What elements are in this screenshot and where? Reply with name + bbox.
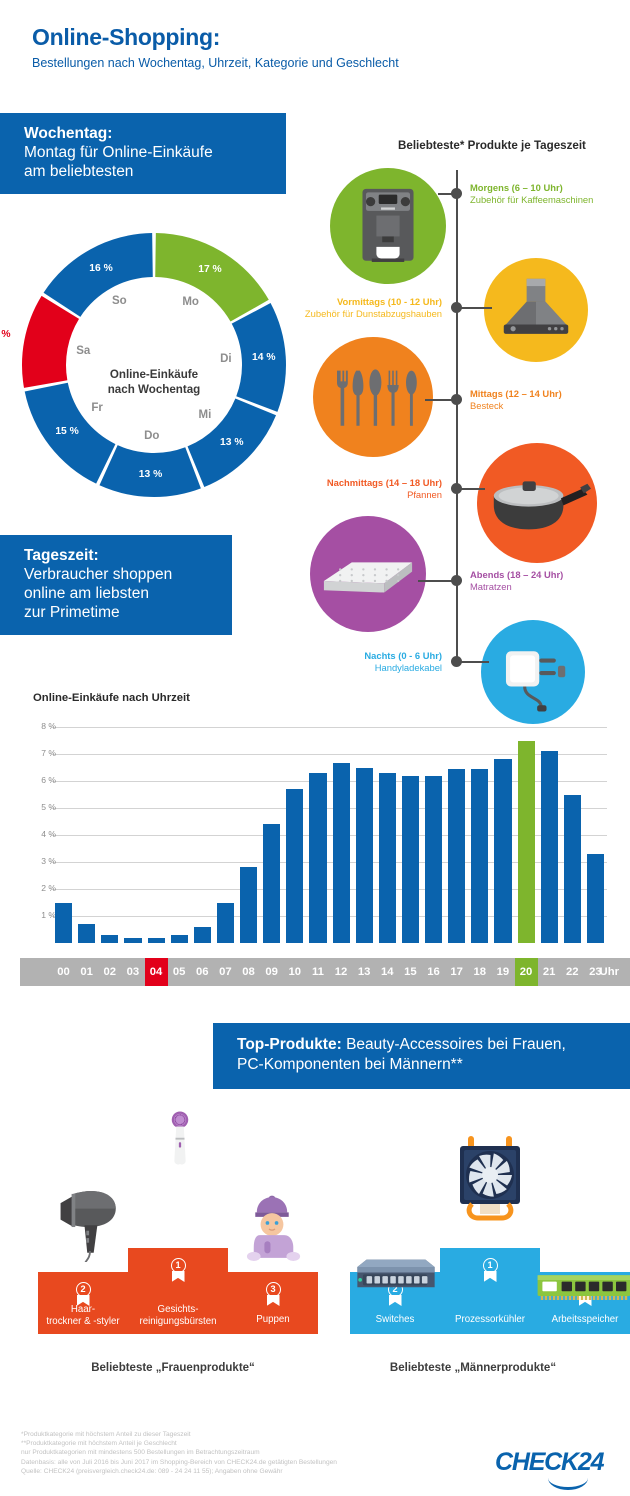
donut-slice-So [44,233,153,317]
timeline-icon-circle-2 [313,337,433,457]
podium-label-line-2: trockner & -styler [32,1316,134,1328]
timeline-icon-circle-3 [477,443,597,563]
podium-caption-women: Beliebteste „Frauenprodukte“ [48,1362,298,1374]
hour-label-21: 21 [538,958,561,986]
bar-hour-02 [101,935,118,943]
hour-label-09: 09 [260,958,283,986]
weekday-line-1: Montag für Online-Einkäufe [24,143,270,162]
bar-hour-18 [471,769,488,943]
donut-day-label-Di: Di [212,353,240,365]
hour-label-04: 04 [145,958,168,986]
donut-center-line-2: nach Wochentag [108,383,201,396]
bar-hour-11 [309,773,326,943]
bar-hour-03 [124,938,141,943]
bar-hour-10 [286,789,303,943]
timeline-title: Beliebteste* Produkte je Tageszeit [398,139,586,152]
donut-day-label-Mi: Mi [191,409,219,421]
daytime-headline: Tageszeit: [24,546,216,565]
timeline-product-3: Pfannen [282,489,442,501]
topproducts-line-1: Beauty-Accessoires bei Frauen, [346,1036,566,1053]
daytime-line-1: Verbraucher shoppen [24,565,216,584]
medal-ribbon-icon-women-1: 1 [170,1258,187,1282]
hour-label-10: 10 [283,958,306,986]
hour-label-22: 22 [561,958,584,986]
weekday-headline: Wochentag: [24,124,270,143]
hour-label-08: 08 [237,958,260,986]
timeline-connector-1 [458,307,492,309]
timeline-time-1: Vormittags (10 - 12 Uhr) [282,296,442,308]
hair-dryer-icon [44,1170,136,1262]
bar-hour-05 [171,935,188,943]
hour-axis-strip: 0001020304050607080910111213141516171819… [20,958,630,986]
hour-label-03: 03 [121,958,144,986]
donut-value-label-Fr: 15 % [50,426,84,437]
bar-hour-13 [356,768,373,944]
bar-hour-01 [78,924,95,943]
footnote-0: *Produktkategorie mit höchstem Anteil zu… [21,1430,337,1439]
timeline-product-4: Matratzen [470,581,630,593]
bar-hour-00 [55,903,72,944]
timeline-connector-3 [458,488,485,490]
timeline-label-3: Nachmittags (14 – 18 Uhr)Pfannen [282,477,442,501]
timeline-icon-circle-0 [330,168,446,284]
hourly-chart-title: Online-Einkäufe nach Uhrzeit [33,692,190,704]
podium-caption-men: Beliebteste „Männerprodukte“ [348,1362,598,1374]
podium-label-men-1: Prozessorkühler [434,1314,546,1326]
hour-label-12: 12 [330,958,353,986]
timeline-label-5: Nachts (0 - 6 Uhr)Handyladekabel [282,650,442,674]
timeline-label-1: Vormittags (10 - 12 Uhr)Zubehör für Duns… [282,296,442,320]
hour-label-11: 11 [306,958,329,986]
bar-hour-21 [541,751,558,943]
timeline-connector-0 [438,193,456,195]
hour-label-16: 16 [422,958,445,986]
hour-label-13: 13 [353,958,376,986]
timeline-label-4: Abends (18 – 24 Uhr)Matratzen [470,569,630,593]
timeline-connector-5 [458,661,489,663]
podium-label-line-1: Haar- [32,1304,134,1316]
timeline-product-0: Zubehör für Kaffeemaschinen [470,194,630,206]
footnotes: *Produktkategorie mit höchstem Anteil zu… [21,1430,337,1476]
topproducts-callout-box: Top-Produkte: Beauty-Accessoires bei Fra… [213,1023,630,1089]
podium-label-women-2: Haar-trockner & -styler [32,1304,134,1328]
footnote-2: nur Produktkategorien mit mindestens 500… [21,1448,337,1457]
page-subtitle: Bestellungen nach Wochentag, Uhrzeit, Ka… [32,56,399,70]
hour-label-17: 17 [445,958,468,986]
timeline-time-3: Nachmittags (14 – 18 Uhr) [282,477,442,489]
bar-hour-14 [379,773,396,943]
podium-label-line-1: Prozessorkühler [434,1314,546,1326]
donut-value-label-Mi: 13 % [215,437,249,448]
timeline-product-1: Zubehör für Dunstabzugshauben [282,308,442,320]
topproducts-line-2: PC-Komponenten bei Männern** [237,1055,614,1075]
bar-hour-15 [402,776,419,943]
donut-day-label-Mo: Mo [177,296,205,308]
donut-value-label-Mo: 17 % [193,264,227,275]
cpu-cooler-icon [440,1128,540,1228]
bar-hour-07 [217,903,234,944]
daytime-line-3: zur Primetime [24,603,216,622]
timeline-time-4: Abends (18 – 24 Uhr) [470,569,630,581]
timeline-icon-circle-4 [310,516,426,632]
weekday-donut-chart: Online-Einkäufe nach Wochentag 17 %Mo14 … [8,225,300,505]
bar-hour-16 [425,776,442,943]
donut-day-label-So: So [105,295,133,307]
bar-hour-17 [448,769,465,943]
daytime-callout-box: Tageszeit: Verbraucher shoppen online am… [0,535,232,635]
topproducts-headline: Top-Produkte: [237,1036,342,1053]
timeline-time-0: Morgens (6 – 10 Uhr) [470,182,630,194]
podium-label-line-1: Puppen [222,1314,324,1326]
footnote-3: Datenbasis: alle von Juli 2016 bis Juni … [21,1458,337,1467]
donut-value-label-Do: 13 % [134,469,168,480]
bar-hour-19 [494,759,511,943]
medal-ribbon-icon-women-3: 3 [265,1282,282,1306]
bar-hour-20 [518,741,535,944]
donut-day-label-Fr: Fr [83,402,111,414]
donut-value-label-Sa: 12 % [0,329,16,340]
weekday-callout-box: Wochentag: Montag für Online-Einkäufe am… [0,113,286,194]
bar-hour-12 [333,763,350,943]
hour-label-07: 07 [214,958,237,986]
donut-center-label: Online-Einkäufe nach Wochentag [8,367,300,397]
hour-label-05: 05 [168,958,191,986]
hour-axis-unit: Uhr [600,958,619,986]
medal-ribbon-icon-men-1: 1 [482,1258,499,1282]
hourly-bar-chart: 8 %7 %6 %5 %4 %3 %2 %1 % 000102030405060… [0,715,630,985]
bar-hour-23 [587,854,604,943]
bar-hour-06 [194,927,211,943]
hour-label-02: 02 [98,958,121,986]
donut-value-label-So: 16 % [84,263,118,274]
donut-slice-Mo [155,233,269,322]
hour-label-20: 20 [515,958,538,986]
footnote-1: **Produktkategorie mit höchstem Anteil j… [21,1439,337,1448]
podium-label-line-2: reinigungsbürsten [122,1316,234,1328]
bar-plot-area [52,727,607,943]
timeline-connector-4 [418,580,456,582]
facial-brush-icon [150,1110,210,1170]
timeline-product-2: Besteck [470,400,630,412]
hour-label-00: 00 [52,958,75,986]
donut-day-label-Sa: Sa [69,345,97,357]
timeline-connector-2 [425,399,456,401]
network-switch-icon [350,1232,442,1324]
donut-value-label-Di: 14 % [247,352,281,363]
timeline-axis [456,170,458,663]
hour-label-01: 01 [75,958,98,986]
podium-label-women-3: Puppen [222,1314,324,1326]
timeline-product-5: Handyladekabel [282,662,442,674]
donut-svg [8,225,300,505]
bar-hour-08 [240,867,257,943]
timeline-label-0: Morgens (6 – 10 Uhr)Zubehör für Kaffeema… [470,182,630,206]
hour-label-14: 14 [376,958,399,986]
donut-center-line-1: Online-Einkäufe [110,368,198,381]
donut-day-label-Do: Do [138,430,166,442]
bar-hour-09 [263,824,280,943]
check24-logo-arc-icon [548,1478,588,1490]
ram-module-icon [536,1240,630,1336]
hour-label-06: 06 [191,958,214,986]
medal-ribbon-icon-women-2: 2 [75,1282,92,1306]
hour-label-18: 18 [468,958,491,986]
podium-label-line-1: Gesichts- [122,1304,234,1316]
check24-logo[interactable]: CHECK24 [495,1448,603,1477]
timeline-time-2: Mittags (12 – 14 Uhr) [470,388,630,400]
podium-label-women-1: Gesichts-reinigungsbürsten [122,1304,234,1328]
footnote-4: Quelle: CHECK24 (preisvergleich.check24.… [21,1467,337,1476]
timeline-time-5: Nachts (0 - 6 Uhr) [282,650,442,662]
weekday-line-2: am beliebtesten [24,162,270,181]
bar-hour-22 [564,795,581,944]
hour-label-19: 19 [491,958,514,986]
timeline-icon-circle-1 [484,258,588,362]
page-title: Online-Shopping: [32,24,220,51]
timeline-icon-circle-5 [481,620,585,724]
doll-icon [234,1188,310,1264]
hour-label-15: 15 [399,958,422,986]
bar-hour-04 [148,938,165,943]
daytime-line-2: online am liebsten [24,584,216,603]
timeline-label-2: Mittags (12 – 14 Uhr)Besteck [470,388,630,412]
